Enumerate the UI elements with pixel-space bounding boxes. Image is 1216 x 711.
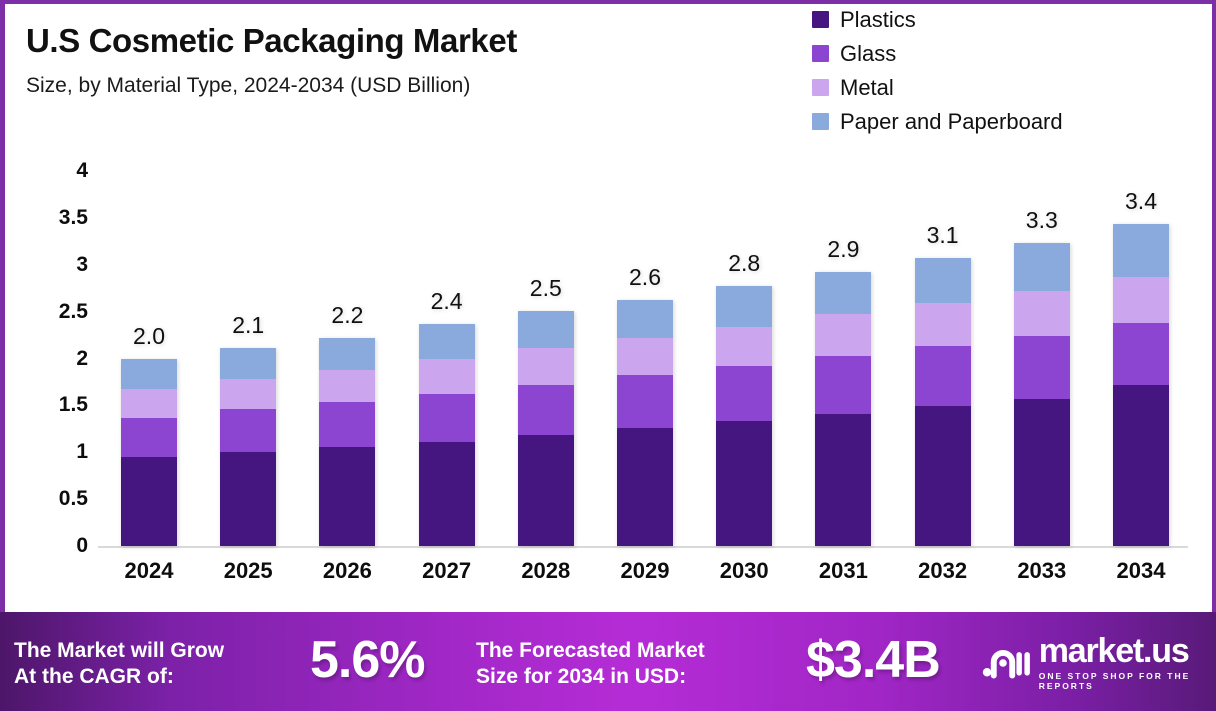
stacked-bar[interactable]: 2.1 — [220, 348, 276, 546]
cagr-value: 5.6% — [310, 630, 425, 690]
bar-segment-paper-and-paperboard[interactable] — [1014, 243, 1070, 291]
bar-segment-paper-and-paperboard[interactable] — [815, 272, 871, 314]
cagr-caption-line2: At the CAGR of: — [14, 664, 224, 690]
x-axis-tick-label: 2028 — [521, 558, 570, 584]
bar-segment-paper-and-paperboard[interactable] — [220, 348, 276, 379]
x-axis-tick-label: 2031 — [819, 558, 868, 584]
bar-segment-plastics[interactable] — [121, 457, 177, 546]
stacked-bar[interactable]: 2.9 — [815, 272, 871, 546]
logo-name: market.us — [1039, 634, 1216, 668]
stacked-bar[interactable]: 2.6 — [617, 300, 673, 546]
bar-segment-metal[interactable] — [518, 348, 574, 385]
bar-total-label: 3.1 — [927, 222, 959, 249]
bar-total-label: 3.4 — [1125, 188, 1157, 215]
market-us-logo-mark — [982, 642, 1031, 684]
bar-segment-paper-and-paperboard[interactable] — [419, 324, 475, 360]
bar-segment-paper-and-paperboard[interactable] — [1113, 224, 1169, 277]
bar-segment-glass[interactable] — [319, 402, 375, 447]
forecast-caption: The Forecasted Market Size for 2034 in U… — [476, 638, 705, 689]
bar-total-label: 2.6 — [629, 264, 661, 291]
bar-segment-glass[interactable] — [1113, 323, 1169, 385]
bar-total-label: 2.9 — [827, 236, 859, 263]
logo-tagline: ONE STOP SHOP FOR THE REPORTS — [1039, 671, 1216, 691]
bar-segment-paper-and-paperboard[interactable] — [319, 338, 375, 370]
x-axis-tick-label: 2033 — [1017, 558, 1066, 584]
bar-segment-paper-and-paperboard[interactable] — [915, 258, 971, 303]
stacked-bar[interactable]: 2.2 — [319, 338, 375, 546]
bar-series-container: 2.020242.120252.220262.420272.520282.620… — [0, 0, 1216, 612]
bar-group[interactable]: 2.12025 — [220, 348, 276, 546]
bar-group[interactable]: 2.02024 — [121, 359, 177, 546]
bar-group[interactable]: 3.42034 — [1113, 224, 1169, 546]
bar-segment-glass[interactable] — [915, 346, 971, 406]
bar-segment-paper-and-paperboard[interactable] — [617, 300, 673, 338]
bar-segment-metal[interactable] — [419, 359, 475, 394]
bar-group[interactable]: 2.92031 — [815, 272, 871, 546]
bar-segment-metal[interactable] — [716, 327, 772, 366]
bar-segment-paper-and-paperboard[interactable] — [716, 286, 772, 326]
bar-segment-plastics[interactable] — [319, 447, 375, 546]
bar-segment-paper-and-paperboard[interactable] — [121, 359, 177, 389]
stacked-bar[interactable]: 2.8 — [716, 286, 772, 546]
stacked-bar[interactable]: 2.0 — [121, 359, 177, 546]
bar-segment-plastics[interactable] — [1014, 399, 1070, 546]
market-us-logo-text: market.us ONE STOP SHOP FOR THE REPORTS — [1039, 634, 1216, 691]
bar-segment-metal[interactable] — [815, 314, 871, 355]
forecast-value: $3.4B — [806, 630, 940, 690]
x-axis-tick-label: 2024 — [125, 558, 174, 584]
stacked-bar[interactable]: 2.4 — [419, 324, 475, 546]
bar-segment-glass[interactable] — [220, 409, 276, 452]
bar-group[interactable]: 3.32033 — [1014, 243, 1070, 546]
bar-segment-glass[interactable] — [617, 375, 673, 428]
x-axis-tick-label: 2030 — [720, 558, 769, 584]
bar-group[interactable]: 2.42027 — [419, 324, 475, 546]
bar-segment-metal[interactable] — [121, 389, 177, 417]
x-axis-tick-label: 2029 — [621, 558, 670, 584]
bar-segment-glass[interactable] — [419, 394, 475, 442]
bar-segment-paper-and-paperboard[interactable] — [518, 311, 574, 349]
bar-group[interactable]: 3.12032 — [915, 258, 971, 546]
bar-group[interactable]: 2.82030 — [716, 286, 772, 546]
bar-segment-plastics[interactable] — [915, 406, 971, 546]
stacked-bar[interactable]: 2.5 — [518, 311, 574, 546]
bar-segment-glass[interactable] — [716, 366, 772, 421]
x-axis-tick-label: 2032 — [918, 558, 967, 584]
stacked-bar[interactable]: 3.3 — [1014, 243, 1070, 546]
stacked-bar[interactable]: 3.1 — [915, 258, 971, 546]
bar-segment-metal[interactable] — [319, 370, 375, 402]
forecast-caption-line1: The Forecasted Market — [476, 638, 705, 664]
bar-group[interactable]: 2.52028 — [518, 311, 574, 546]
cagr-caption-line1: The Market will Grow — [14, 638, 224, 664]
bar-total-label: 2.2 — [331, 302, 363, 329]
bar-segment-plastics[interactable] — [518, 435, 574, 546]
plot-area: 00.511.522.533.54 2.020242.120252.220262… — [0, 0, 1216, 612]
bar-group[interactable]: 2.62029 — [617, 300, 673, 546]
bar-segment-plastics[interactable] — [617, 428, 673, 546]
bar-total-label: 2.1 — [232, 312, 264, 339]
bar-segment-glass[interactable] — [1014, 336, 1070, 399]
cagr-caption: The Market will Grow At the CAGR of: — [14, 638, 224, 689]
bar-total-label: 3.3 — [1026, 207, 1058, 234]
bar-segment-plastics[interactable] — [419, 442, 475, 546]
bar-total-label: 2.8 — [728, 250, 760, 277]
forecast-caption-line2: Size for 2034 in USD: — [476, 664, 705, 690]
bar-total-label: 2.0 — [133, 323, 165, 350]
bar-segment-glass[interactable] — [518, 385, 574, 436]
x-axis-tick-label: 2027 — [422, 558, 471, 584]
bar-segment-metal[interactable] — [1113, 277, 1169, 323]
stacked-bar[interactable]: 3.4 — [1113, 224, 1169, 546]
bar-segment-plastics[interactable] — [220, 452, 276, 546]
bar-segment-metal[interactable] — [220, 379, 276, 409]
x-axis-tick-label: 2034 — [1117, 558, 1166, 584]
x-axis-tick-label: 2026 — [323, 558, 372, 584]
bar-segment-plastics[interactable] — [716, 421, 772, 546]
bar-segment-metal[interactable] — [915, 303, 971, 346]
bar-total-label: 2.5 — [530, 275, 562, 302]
x-axis-tick-label: 2025 — [224, 558, 273, 584]
bar-segment-metal[interactable] — [617, 338, 673, 376]
bar-segment-glass[interactable] — [121, 418, 177, 457]
chart-infographic: U.S Cosmetic Packaging Market Size, by M… — [0, 0, 1216, 711]
market-us-logo[interactable]: market.us ONE STOP SHOP FOR THE REPORTS — [982, 634, 1216, 691]
bar-total-label: 2.4 — [431, 288, 463, 315]
bar-group[interactable]: 2.22026 — [319, 338, 375, 546]
bar-segment-glass[interactable] — [815, 356, 871, 414]
bar-segment-plastics[interactable] — [815, 414, 871, 546]
bar-segment-metal[interactable] — [1014, 291, 1070, 336]
bar-segment-plastics[interactable] — [1113, 385, 1169, 546]
